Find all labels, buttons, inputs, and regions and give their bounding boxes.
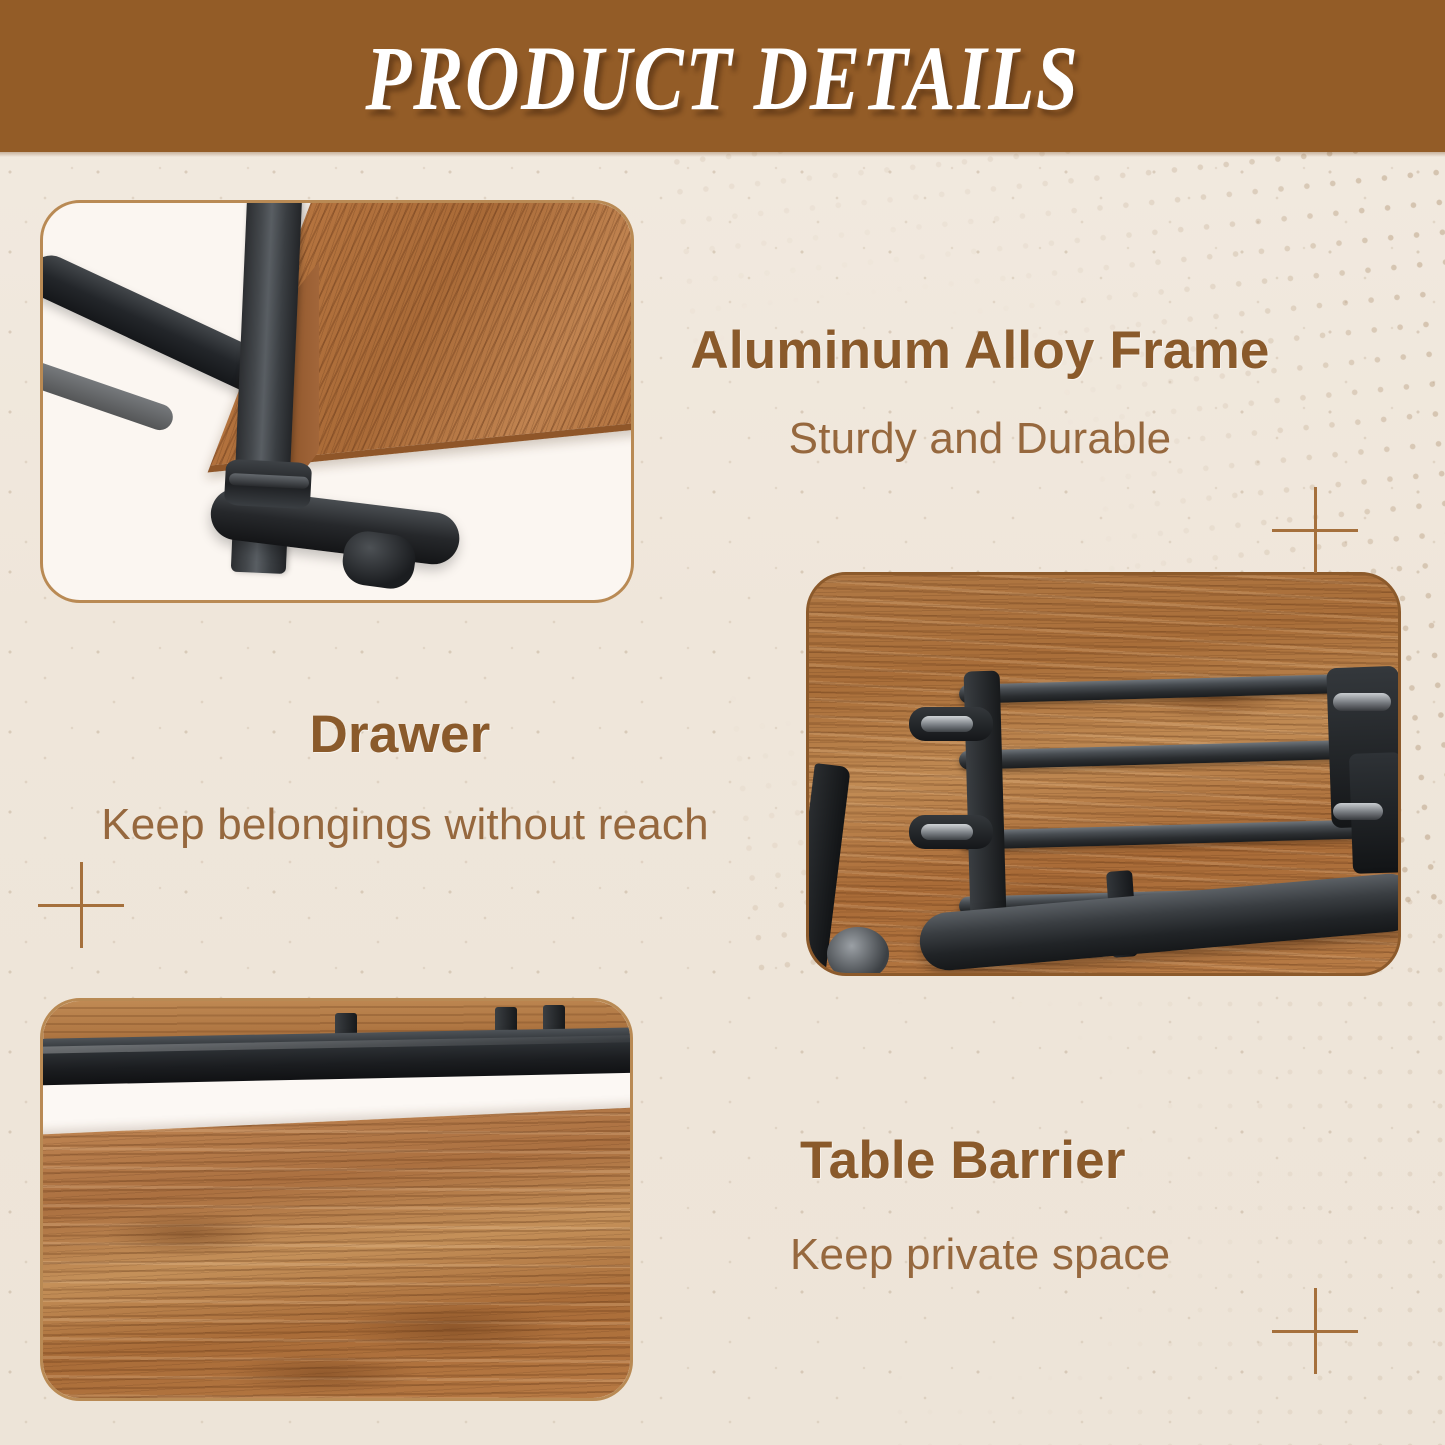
cross-vertical-stroke (1314, 487, 1317, 573)
metal-pin (1333, 693, 1391, 711)
feature-subtitle: Keep belongings without reach (95, 800, 715, 851)
feature-subtitle: Keep private space (790, 1230, 1320, 1281)
feature-image-card-aluminum-alloy-frame (40, 200, 634, 603)
page-title: PRODUCT DETAILS (365, 32, 1079, 124)
banner-bottom-edge (0, 152, 1445, 157)
drawer-underside-photo (809, 575, 1398, 973)
feature-title: Drawer (85, 706, 715, 764)
header-banner: PRODUCT DETAILS (0, 0, 1445, 152)
feature-image-card-table-barrier (40, 998, 633, 1401)
adjustment-knob (827, 927, 889, 976)
product-details-infographic: PRODUCT DETAILS (0, 0, 1445, 1445)
feature-text-drawer: Drawer Keep belongings without reach (95, 706, 715, 851)
feature-subtitle: Sturdy and Durable (690, 414, 1270, 465)
cross-vertical-stroke (80, 862, 83, 948)
feature-text-aluminum-alloy-frame: Aluminum Alloy Frame Sturdy and Durable (690, 322, 1270, 465)
wood-knot (343, 1301, 563, 1355)
cross-mark-icon (1272, 487, 1358, 573)
feature-text-table-barrier: Table Barrier Keep private space (800, 1132, 1320, 1281)
cross-vertical-stroke (1314, 1288, 1317, 1374)
table-barrier-photo (43, 1001, 630, 1398)
feature-title: Aluminum Alloy Frame (690, 322, 1270, 380)
wood-knot (223, 1353, 423, 1395)
metal-pin (921, 716, 973, 732)
feature-title: Table Barrier (800, 1132, 1320, 1190)
cross-mark-icon (38, 862, 124, 948)
table-leg-photo (43, 203, 631, 600)
leg-base-arm-highlight (40, 350, 176, 433)
wood-knot (103, 1211, 273, 1257)
metal-pin (921, 824, 973, 840)
feature-image-card-drawer (806, 572, 1401, 976)
metal-pin (1333, 803, 1383, 820)
cross-mark-icon (1272, 1288, 1358, 1374)
